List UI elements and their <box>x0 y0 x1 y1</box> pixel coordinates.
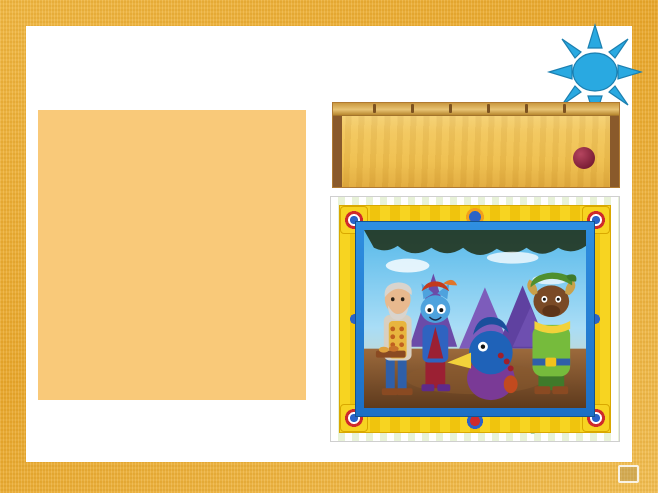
definition-text-box <box>38 110 306 400</box>
wax-seal-icon <box>573 147 595 169</box>
proverb-scroll-banner <box>332 102 620 188</box>
watermark <box>618 465 644 483</box>
fairytale-illustration <box>330 196 620 442</box>
illustration-scene <box>364 230 586 408</box>
slide-canvas <box>0 0 658 493</box>
scroll-pegs <box>333 103 619 115</box>
scene-artwork <box>364 230 586 408</box>
document-icon <box>618 465 639 483</box>
